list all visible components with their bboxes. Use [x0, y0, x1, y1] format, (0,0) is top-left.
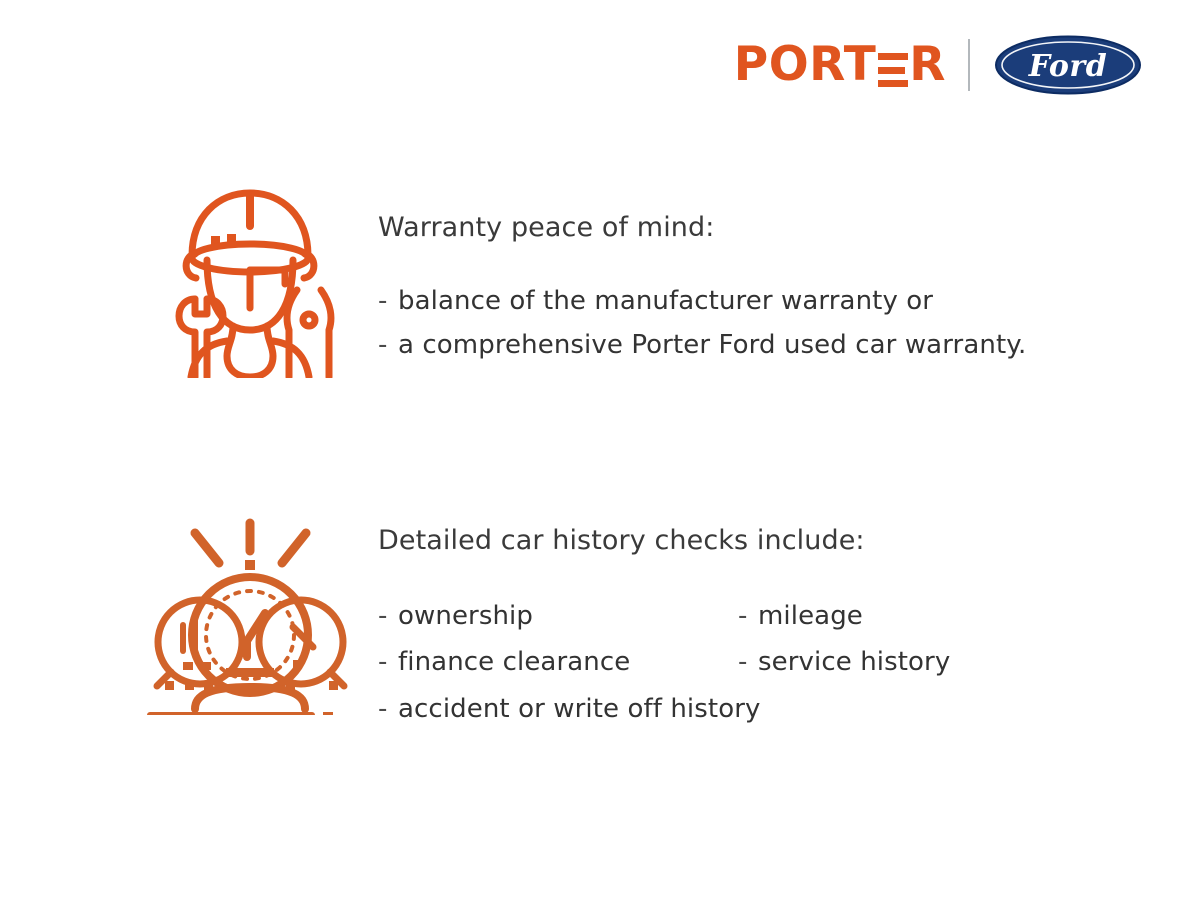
- history-bullet-list: - ownership - mileage - finance clearanc…: [378, 599, 950, 726]
- bullet-label: mileage: [758, 599, 863, 634]
- history-text-block: Detailed car history checks include: - o…: [378, 505, 950, 738]
- section-warranty: Warranty peace of mind: - balance of the…: [150, 178, 1026, 383]
- list-item: - finance clearance - service history: [378, 645, 950, 680]
- warranty-text-block: Warranty peace of mind: - balance of the…: [378, 178, 1026, 373]
- bullet-label: finance clearance: [398, 645, 630, 680]
- history-heading: Detailed car history checks include:: [378, 525, 950, 557]
- list-item: - ownership - mileage: [378, 599, 950, 634]
- ford-logo: Ford: [994, 35, 1142, 95]
- list-item: - balance of the manufacturer warranty o…: [378, 284, 1026, 319]
- porter-wordmark: PORT R: [734, 42, 946, 88]
- porter-stylized-e-icon: [878, 53, 908, 87]
- dashboard-gauges-icon: [140, 505, 360, 720]
- bullet-label: service history: [758, 645, 950, 680]
- dashboard-gauges-icon-glyph: [143, 505, 358, 715]
- bullet-dash: -: [378, 692, 398, 727]
- bullet-dash: -: [378, 645, 398, 680]
- bullet-dash: -: [738, 599, 758, 634]
- list-item: - a comprehensive Porter Ford used car w…: [378, 328, 1026, 363]
- section-history: Detailed car history checks include: - o…: [140, 505, 950, 738]
- bullet-label: ownership: [398, 599, 533, 634]
- porter-wordmark-lead: PORT: [734, 41, 877, 88]
- mechanic-icon: [150, 178, 350, 383]
- ford-oval-icon: Ford: [994, 35, 1142, 95]
- bullet-dash: -: [378, 284, 398, 319]
- porter-wordmark-tail: R: [909, 41, 946, 88]
- svg-text:Ford: Ford: [1028, 49, 1107, 84]
- list-item: - accident or write off history: [378, 692, 950, 727]
- bullet-dash: -: [378, 328, 398, 363]
- bullet-dash: -: [738, 645, 758, 680]
- bullet-label: a comprehensive Porter Ford used car war…: [398, 328, 1026, 363]
- warranty-heading: Warranty peace of mind:: [378, 212, 1026, 244]
- bullet-label: accident or write off history: [398, 692, 760, 727]
- mechanic-icon-glyph: [155, 178, 345, 378]
- bullet-label: balance of the manufacturer warranty or: [398, 284, 933, 319]
- bullet-dash: -: [378, 599, 398, 634]
- logo-divider: [968, 39, 970, 91]
- brand-logo-lockup: PORT R Ford: [734, 33, 1142, 97]
- warranty-bullet-list: - balance of the manufacturer warranty o…: [378, 284, 1026, 363]
